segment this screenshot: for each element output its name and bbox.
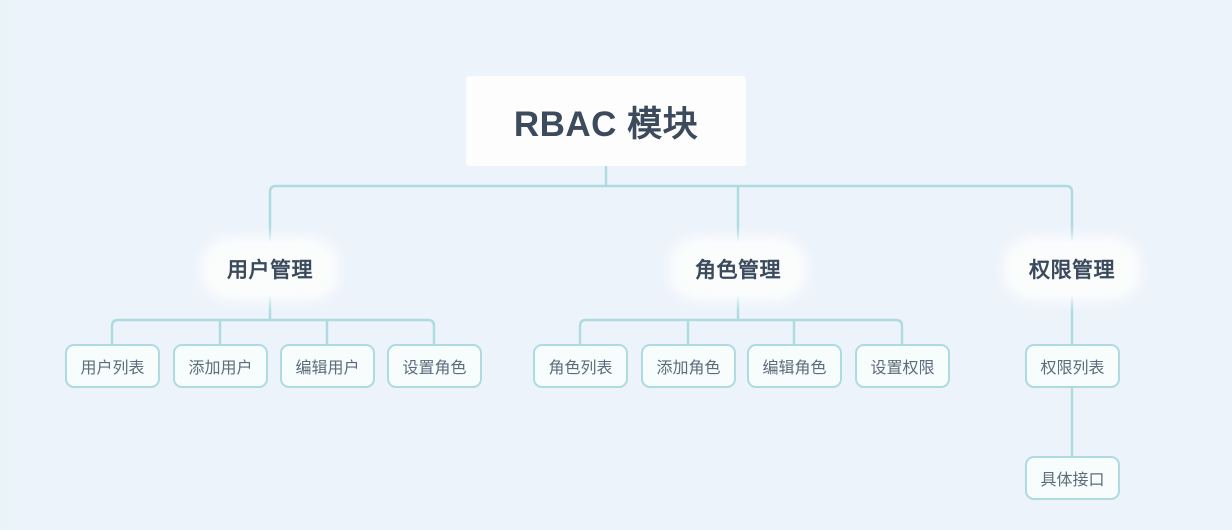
node-leaf-role-list[interactable]: 角色列表 (533, 344, 628, 388)
node-leaf-edit-user[interactable]: 编辑用户 (280, 344, 375, 388)
edge-root-bus (270, 186, 1072, 240)
node-leaf-add-role[interactable]: 添加角色 (641, 344, 736, 388)
edge-user-bus (112, 320, 434, 344)
diagram-canvas: RBAC 模块 用户管理 角色管理 权限管理 用户列表 添加用户 编辑用户 设置… (0, 0, 1232, 530)
node-leaf-add-user[interactable]: 添加用户 (173, 344, 268, 388)
edge-role-bus (580, 320, 902, 344)
node-leaf-edit-role[interactable]: 编辑角色 (747, 344, 842, 388)
node-branch-role-management[interactable]: 角色管理 (679, 246, 797, 292)
node-leaf-set-permission[interactable]: 设置权限 (855, 344, 950, 388)
node-leaf-set-role[interactable]: 设置角色 (387, 344, 482, 388)
node-root-rbac-module[interactable]: RBAC 模块 (466, 76, 746, 166)
node-branch-permission-management[interactable]: 权限管理 (1013, 246, 1131, 292)
node-leaf-user-list[interactable]: 用户列表 (65, 344, 160, 388)
node-leaf-concrete-api[interactable]: 具体接口 (1025, 456, 1120, 500)
node-leaf-permission-list[interactable]: 权限列表 (1025, 344, 1120, 388)
node-branch-user-management[interactable]: 用户管理 (211, 246, 329, 292)
